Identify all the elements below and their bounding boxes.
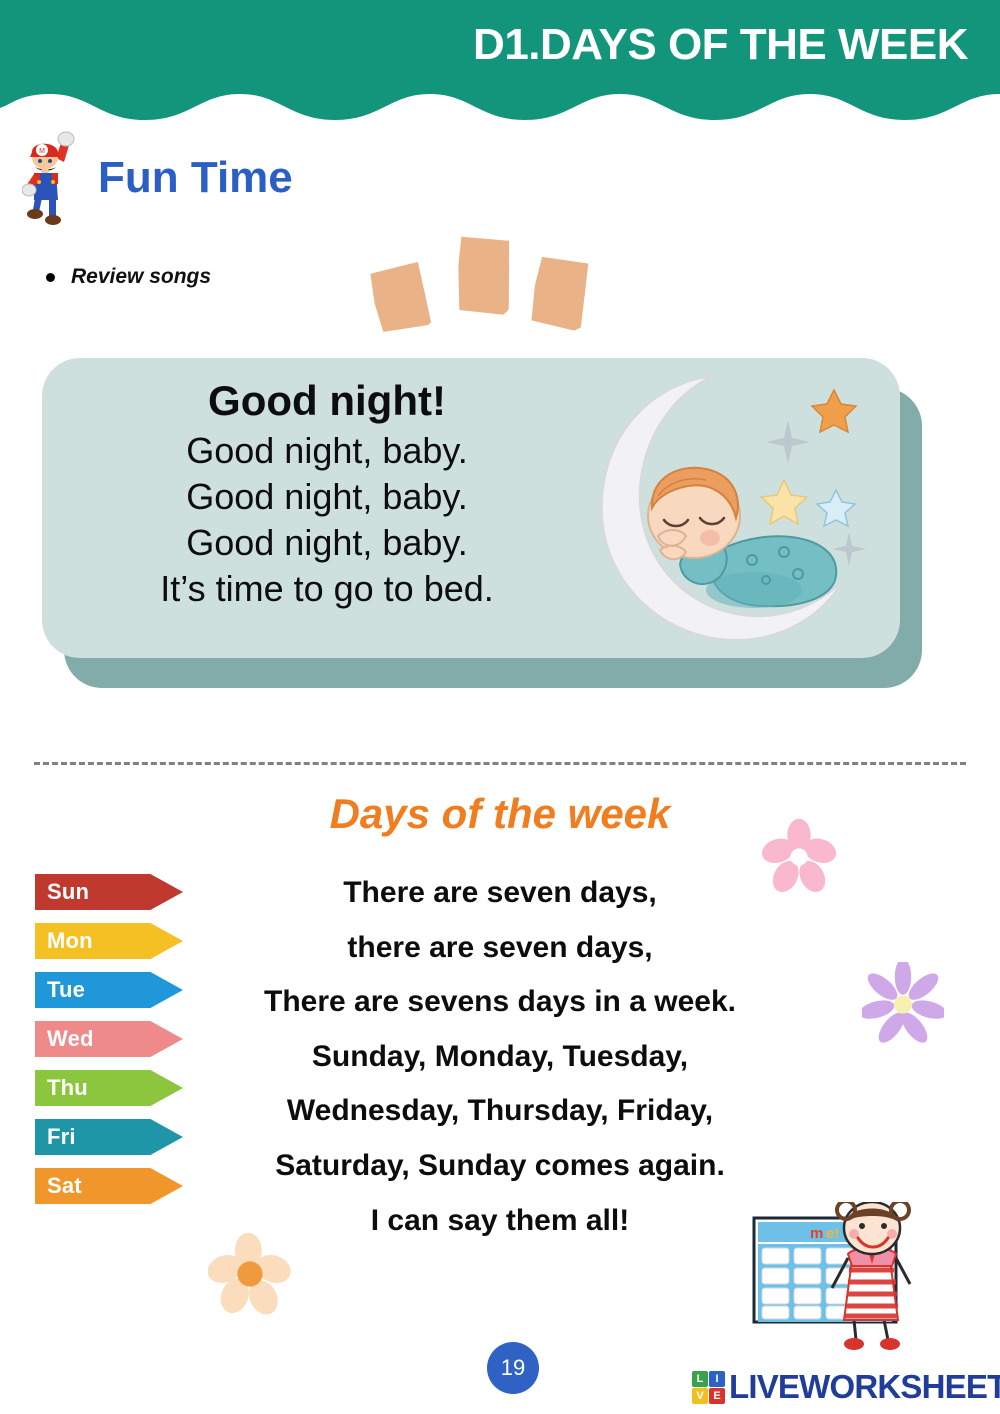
svg-text:e!: e! bbox=[826, 1225, 839, 1242]
tape-decoration-group bbox=[366, 236, 596, 332]
week-song-line: There are seven days, bbox=[165, 866, 835, 921]
girl-with-calendar-icon: m e! bbox=[748, 1202, 940, 1354]
day-banner-label: Wed bbox=[35, 1026, 94, 1052]
week-song-line: Wednesday, Thursday, Friday, bbox=[165, 1084, 835, 1139]
logo-block-e: E bbox=[709, 1388, 725, 1404]
song-line: Good night, baby. bbox=[72, 520, 582, 566]
day-banner-label: Tue bbox=[35, 977, 85, 1003]
section-divider bbox=[34, 762, 966, 765]
bullet-point-icon bbox=[46, 273, 55, 282]
song-line: Good night, baby. bbox=[72, 428, 582, 474]
liveworksheets-logo[interactable]: L I V E LIVEWORKSHEETS bbox=[692, 1368, 1000, 1406]
song-card-panel: Good night! Good night, baby. Good night… bbox=[42, 358, 900, 658]
review-songs-label: Review songs bbox=[71, 265, 211, 289]
page-title: D1.DAYS OF THE WEEK bbox=[473, 20, 968, 70]
day-banner-label: Sun bbox=[35, 879, 89, 905]
day-banner-label: Fri bbox=[35, 1124, 76, 1150]
fun-time-label: Fun Time bbox=[98, 153, 293, 203]
tape-piece-icon bbox=[457, 235, 512, 315]
day-banner-wed[interactable]: Wed bbox=[35, 1021, 183, 1057]
tape-piece-icon bbox=[529, 254, 591, 331]
day-banner-label: Sat bbox=[35, 1173, 82, 1199]
day-banner-mon[interactable]: Mon bbox=[35, 923, 183, 959]
week-song-line: Sunday, Monday, Tuesday, bbox=[165, 1030, 835, 1085]
day-banner-fri[interactable]: Fri bbox=[35, 1119, 183, 1155]
svg-text:M: M bbox=[39, 148, 45, 155]
days-of-week-heading: Days of the week bbox=[0, 790, 1000, 838]
week-song-line: there are seven days, bbox=[165, 921, 835, 976]
day-banner-label: Mon bbox=[35, 928, 93, 954]
logo-letter-blocks: L I V E bbox=[692, 1371, 725, 1404]
tape-piece-icon bbox=[368, 262, 431, 335]
good-night-song-card: Good night! Good night, baby. Good night… bbox=[42, 358, 922, 718]
day-banner-sat[interactable]: Sat bbox=[35, 1168, 183, 1204]
peach-flower-icon bbox=[208, 1232, 292, 1316]
review-songs-bullet: Review songs bbox=[46, 265, 211, 289]
song-line: Good night, baby. bbox=[72, 474, 582, 520]
logo-block-v: V bbox=[692, 1388, 708, 1404]
week-song-line: Saturday, Sunday comes again. bbox=[165, 1139, 835, 1194]
day-banner-thu[interactable]: Thu bbox=[35, 1070, 183, 1106]
page-number: 19 bbox=[501, 1355, 525, 1381]
logo-block-i: I bbox=[709, 1371, 725, 1387]
mario-character-icon: M bbox=[22, 128, 80, 228]
song-line: It’s time to go to bed. bbox=[72, 566, 582, 612]
day-banner-tue[interactable]: Tue bbox=[35, 972, 183, 1008]
day-banner-list: Sun Mon Tue Wed Thu Fri Sat bbox=[35, 874, 185, 1217]
song-title: Good night! bbox=[72, 374, 582, 428]
week-song-line: There are sevens days in a week. bbox=[165, 975, 835, 1030]
day-banner-label: Thu bbox=[35, 1075, 88, 1101]
song-lyrics-block: Good night! Good night, baby. Good night… bbox=[72, 374, 582, 612]
day-banner-sun[interactable]: Sun bbox=[35, 874, 183, 910]
logo-block-l: L bbox=[692, 1371, 708, 1387]
days-song-lyrics: There are seven days, there are seven da… bbox=[165, 866, 835, 1248]
svg-text:m: m bbox=[810, 1225, 823, 1242]
pink-flower-icon bbox=[760, 818, 838, 896]
page-number-badge: 19 bbox=[487, 1342, 539, 1394]
sleeping-baby-on-moon-icon bbox=[584, 368, 874, 648]
logo-wordmark: LIVEWORKSHEETS bbox=[729, 1368, 1000, 1406]
fun-time-heading-row: M Fun Time bbox=[22, 128, 293, 228]
header-scallop-edge bbox=[0, 88, 1000, 120]
page-header: D1.DAYS OF THE WEEK bbox=[0, 0, 1000, 112]
purple-flower-icon bbox=[862, 962, 944, 1044]
